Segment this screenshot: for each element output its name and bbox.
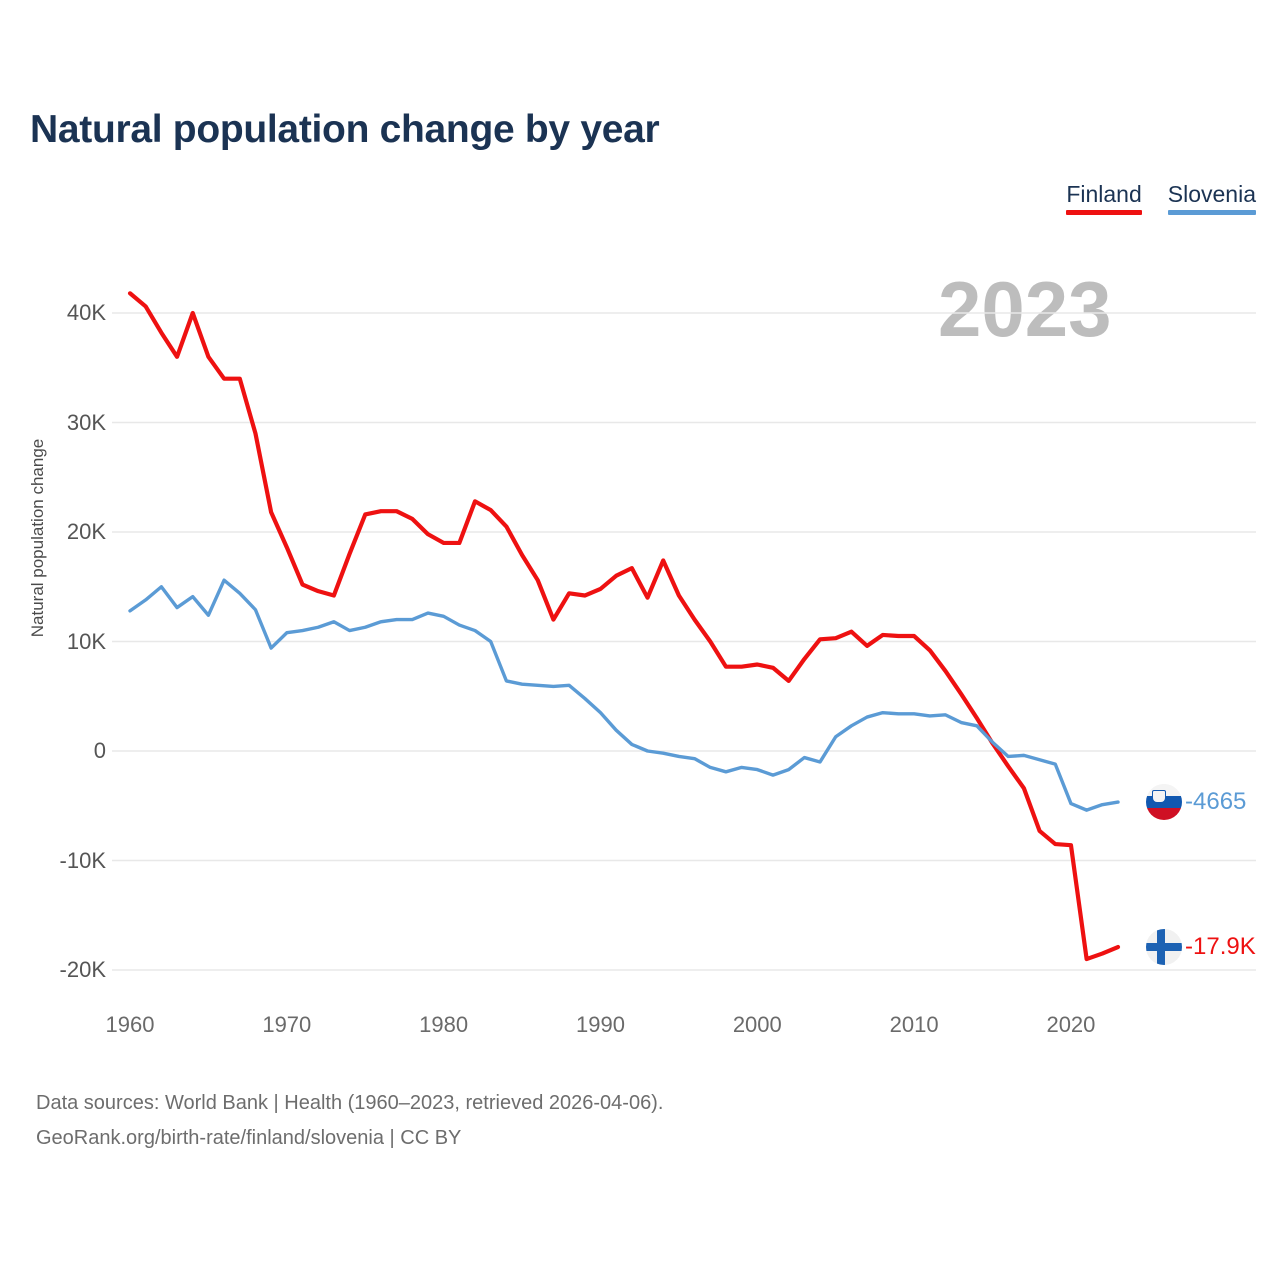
footer-line-1: Data sources: World Bank | Health (1960–… <box>36 1086 663 1121</box>
y-tick-label--20K: -20K <box>20 957 106 983</box>
x-tick-label-1980: 1980 <box>419 1012 468 1038</box>
y-tick-label-30K: 30K <box>20 410 106 436</box>
x-tick-label-2020: 2020 <box>1046 1012 1095 1038</box>
x-tick-label-1960: 1960 <box>106 1012 155 1038</box>
slovenia-flag-icon <box>1146 784 1182 820</box>
y-tick-label-0: 0 <box>20 738 106 764</box>
finland-flag-icon <box>1146 929 1182 965</box>
y-tick-label-20K: 20K <box>20 519 106 545</box>
x-tick-label-1970: 1970 <box>262 1012 311 1038</box>
chart-page: Natural population change by year Finlan… <box>0 0 1280 1280</box>
x-tick-label-2000: 2000 <box>733 1012 782 1038</box>
y-tick-label-40K: 40K <box>20 300 106 326</box>
slovenia-endpoint-label: -4665 <box>1185 788 1246 816</box>
x-tick-label-1990: 1990 <box>576 1012 625 1038</box>
y-tick-label--10K: -10K <box>20 848 106 874</box>
y-tick-label-10K: 10K <box>20 629 106 655</box>
series-line-finland[interactable] <box>130 293 1118 959</box>
finland-endpoint-label: -17.9K <box>1185 933 1256 961</box>
footer-credits: Data sources: World Bank | Health (1960–… <box>36 1086 663 1156</box>
footer-line-2: GeoRank.org/birth-rate/finland/slovenia … <box>36 1121 663 1156</box>
series-line-slovenia[interactable] <box>130 580 1118 810</box>
x-tick-label-2010: 2010 <box>890 1012 939 1038</box>
